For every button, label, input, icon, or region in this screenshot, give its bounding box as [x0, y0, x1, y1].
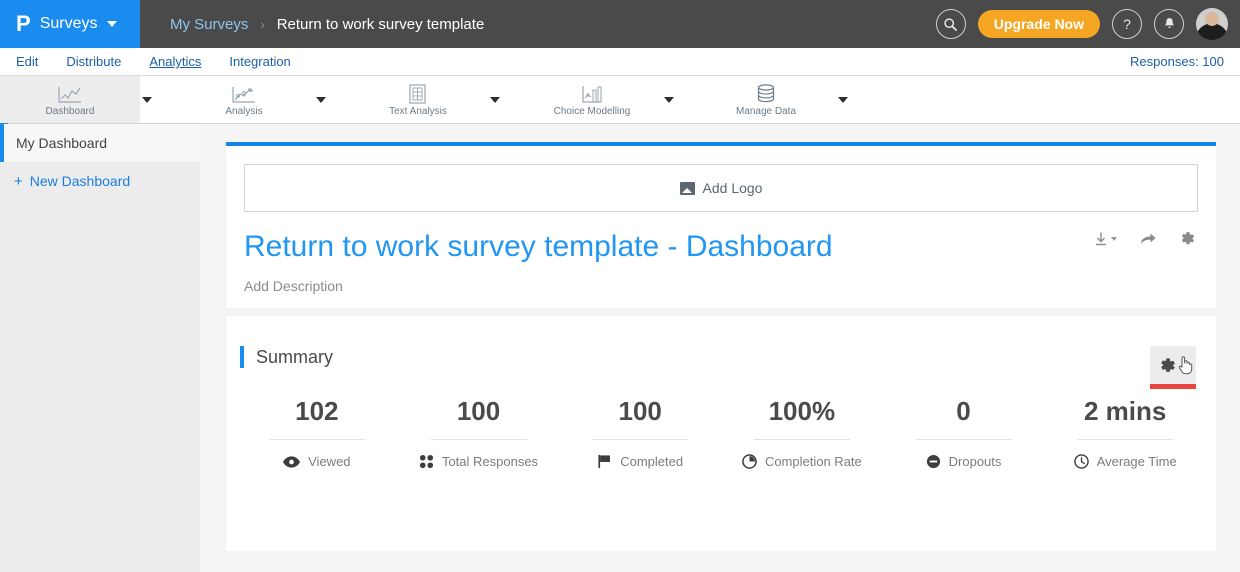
image-icon [680, 182, 695, 195]
toolbar-label-analysis: Analysis [225, 106, 262, 117]
stat-label: Completion Rate [765, 454, 862, 469]
chevron-down-icon[interactable] [838, 97, 848, 103]
tab-edit[interactable]: Edit [16, 54, 38, 69]
tab-integration[interactable]: Integration [229, 54, 290, 69]
gear-glyph [1158, 356, 1177, 375]
dashboard-header-inner: Add Logo Return to work survey template … [226, 146, 1216, 308]
stat-divider [592, 439, 688, 440]
database-glyph [755, 83, 777, 105]
stat-footer: Total Responses [419, 454, 538, 469]
stat-divider [431, 439, 527, 440]
tab-distribute[interactable]: Distribute [66, 54, 121, 69]
sidebar-item-label: My Dashboard [16, 135, 107, 151]
line-chart-icon [57, 83, 83, 105]
search-icon[interactable] [936, 9, 966, 39]
new-dashboard-button[interactable]: + New Dashboard [0, 162, 200, 200]
toolbar-item-manage-data[interactable]: Manage Data [696, 76, 870, 123]
breadcrumb-my-surveys[interactable]: My Surveys [170, 16, 248, 33]
stat-label: Viewed [308, 454, 350, 469]
toolbar-item-choice-modelling[interactable]: Choice Modelling [522, 76, 696, 123]
stat-completed: 100 Completed [559, 396, 721, 469]
toolbar-label-manage-data: Manage Data [736, 106, 796, 117]
chevron-down-icon[interactable] [142, 97, 152, 103]
sidebar-active-marker [0, 124, 4, 162]
summary-header: Summary [226, 316, 1216, 368]
gear-glyph [1179, 230, 1196, 247]
bar-chart-glyph [580, 84, 604, 105]
tab-analytics[interactable]: Analytics [149, 54, 201, 69]
header-actions: Upgrade Now ? [936, 0, 1228, 48]
hand-cursor-glyph [1176, 354, 1196, 376]
stat-average-time: 2 mins Average Time [1044, 396, 1206, 469]
stat-value: 102 [295, 396, 338, 439]
summary-settings-highlight [1150, 384, 1196, 389]
summary-stats: 102 Viewed 100 [226, 368, 1216, 469]
pie-chart-icon [742, 454, 757, 469]
document-grid-icon [407, 83, 429, 105]
stat-label: Completed [620, 454, 683, 469]
card-separator [226, 308, 1216, 316]
settings-gear-icon[interactable] [1179, 230, 1196, 247]
stat-label: Total Responses [442, 454, 538, 469]
toolbar-button-manage-data[interactable]: Manage Data [696, 76, 836, 123]
toolbar-button-dashboard[interactable]: Dashboard [0, 76, 140, 123]
summary-accent-marker [240, 346, 244, 368]
clock-icon [1074, 454, 1089, 469]
top-header-bar: P Surveys My Surveys › Return to work su… [0, 0, 1240, 48]
search-glyph [943, 17, 958, 32]
share-icon[interactable] [1139, 231, 1157, 247]
chevron-down-icon[interactable] [490, 97, 500, 103]
eye-icon [283, 456, 300, 468]
dashboard-title-actions [1093, 230, 1196, 247]
stat-footer: Dropouts [926, 454, 1002, 469]
stat-value: 0 [956, 396, 970, 439]
add-description-link[interactable]: Add Description [244, 278, 1198, 294]
stat-divider [754, 439, 850, 440]
dashboard-content: Add Logo Return to work survey template … [200, 124, 1240, 572]
brand-surveys-menu[interactable]: P Surveys [0, 0, 140, 48]
toolbar-button-choice-modelling[interactable]: Choice Modelling [522, 76, 662, 123]
summary-title: Summary [256, 347, 333, 368]
help-icon[interactable]: ? [1112, 9, 1142, 39]
chevron-down-icon [107, 21, 117, 27]
toolbar-item-analysis[interactable]: Analysis [174, 76, 348, 123]
toolbar-label-text-analysis: Text Analysis [389, 106, 447, 117]
stat-footer: Average Time [1074, 454, 1177, 469]
plus-icon: + [14, 173, 23, 190]
brand-label: Surveys [40, 15, 98, 33]
product-logo-icon: P [16, 13, 30, 35]
database-icon [755, 83, 777, 105]
toolbar-label-dashboard: Dashboard [46, 106, 95, 117]
download-glyph [1093, 231, 1109, 247]
add-logo-label: Add Logo [703, 180, 763, 196]
scatter-chart-icon [231, 83, 257, 105]
dashboard-sidebar: My Dashboard + New Dashboard [0, 124, 200, 572]
stat-completion-rate: 100% Completion Rate [721, 396, 883, 469]
stat-total-responses: 100 Total Responses [398, 396, 560, 469]
section-nav-bar: Edit Distribute Analytics Integration Re… [0, 48, 1240, 76]
scatter-chart-glyph [231, 85, 257, 105]
breadcrumb-current-survey: Return to work survey template [277, 16, 485, 33]
document-grid-glyph [407, 83, 429, 105]
flag-icon [597, 454, 612, 469]
dashboard-header-card: Add Logo Return to work survey template … [226, 142, 1216, 308]
breadcrumb-separator-icon: › [260, 17, 264, 32]
stat-divider [916, 439, 1012, 440]
stat-footer: Completion Rate [742, 454, 862, 469]
avatar[interactable] [1196, 8, 1228, 40]
help-question-mark: ? [1123, 16, 1131, 32]
add-logo-button[interactable]: Add Logo [244, 164, 1198, 212]
summary-card: Summary 102 [226, 316, 1216, 551]
stat-divider [1077, 439, 1173, 440]
stat-dropouts: 0 Dropouts [883, 396, 1045, 469]
stat-value: 100 [618, 396, 661, 439]
stat-label: Dropouts [949, 454, 1002, 469]
stat-viewed: 102 Viewed [236, 396, 398, 469]
bell-glyph [1163, 17, 1176, 31]
stat-value: 2 mins [1084, 396, 1166, 439]
stat-value: 100% [769, 396, 836, 439]
page-title[interactable]: Return to work survey template - Dashboa… [244, 230, 1198, 264]
toolbar-item-text-analysis[interactable]: Text Analysis [348, 76, 522, 123]
stat-label: Average Time [1097, 454, 1177, 469]
stat-divider [269, 439, 365, 440]
four-dots-icon [419, 454, 434, 469]
share-arrow-glyph [1139, 231, 1157, 247]
new-dashboard-label: New Dashboard [30, 173, 130, 189]
stat-value: 100 [457, 396, 500, 439]
chevron-down-icon [1111, 237, 1117, 241]
summary-settings-gear-icon[interactable] [1150, 346, 1196, 384]
bar-chart-icon [580, 83, 604, 105]
upgrade-now-button[interactable]: Upgrade Now [978, 10, 1100, 38]
stat-footer: Completed [597, 454, 683, 469]
chevron-down-icon[interactable] [664, 97, 674, 103]
toolbar-button-text-analysis[interactable]: Text Analysis [348, 76, 488, 123]
minus-circle-icon [926, 454, 941, 469]
breadcrumb: My Surveys › Return to work survey templ… [140, 16, 484, 33]
pointer-hand-cursor-icon [1176, 354, 1196, 376]
chevron-down-icon[interactable] [316, 97, 326, 103]
sidebar-item-my-dashboard[interactable]: My Dashboard [0, 124, 200, 162]
bell-icon[interactable] [1154, 9, 1184, 39]
line-chart-glyph [57, 85, 83, 105]
toolbar-label-choice-modelling: Choice Modelling [554, 106, 631, 117]
responses-count: Responses: 100 [1130, 54, 1224, 69]
toolbar-button-analysis[interactable]: Analysis [174, 76, 314, 123]
analytics-toolbar: Dashboard Analysis [0, 76, 1240, 124]
download-icon[interactable] [1093, 231, 1117, 247]
toolbar-item-dashboard[interactable]: Dashboard [0, 76, 174, 123]
page-body: My Dashboard + New Dashboard Add Logo Re… [0, 124, 1240, 572]
stat-footer: Viewed [283, 454, 350, 469]
